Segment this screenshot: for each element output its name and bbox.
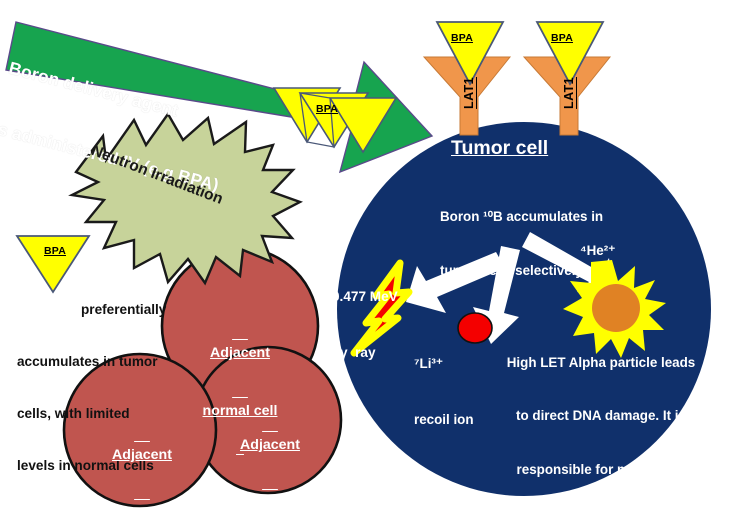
- helium-ion-label: ⁴He²⁺: [580, 243, 615, 259]
- alpha-line-1: High LET Alpha particle leads: [503, 354, 699, 372]
- bpa-label-receptor-1: BPA: [451, 32, 473, 44]
- tumor-cell-subtitle: Boron ¹⁰B accumulates in tumor cells sel…: [440, 172, 655, 317]
- normal-cell-br-line-2: normal cell: [210, 494, 330, 513]
- gamma-line-1: 0.477 MeV: [332, 288, 398, 307]
- lithium-line-2: recoil ion: [414, 411, 474, 430]
- lithium-recoil-ion-label: ⁷Li³⁺ recoil ion: [414, 318, 474, 466]
- normal-cell-bl-line-1: Adjacent: [82, 446, 202, 465]
- tumor-cell-title: Tumor cell: [451, 137, 548, 160]
- gamma-ray-label: 0.477 MeV γ ray: [332, 250, 398, 400]
- tumor-subtitle-line-1: Boron ¹⁰B accumulates in: [440, 208, 655, 226]
- normal-cell-br-line-1: Adjacent: [210, 436, 330, 455]
- lat1-label-2: LAT1: [562, 77, 577, 109]
- alpha-line-3: responsible for majority of: [503, 461, 699, 479]
- legend-line-1: preferentially: [17, 301, 192, 318]
- bpa-label-receptor-2: BPA: [551, 32, 573, 44]
- gamma-line-2: γ ray: [332, 344, 398, 363]
- bpa-label-arrow: BPA: [316, 103, 338, 115]
- bpa-label-legend: BPA: [44, 245, 66, 257]
- normal-cell-label-bottom-left: Adjacent normal cell: [82, 408, 202, 514]
- lithium-line-1: ⁷Li³⁺: [414, 355, 474, 374]
- tumor-subtitle-line-2: tumor cells selectively: [440, 262, 655, 280]
- bnct-mechanism-diagram: Boron delivery agent is administered IV …: [0, 0, 733, 514]
- normal-cell-top-line-1: Adjacent: [180, 344, 300, 363]
- normal-cell-bl-line-2: normal cell: [82, 504, 202, 514]
- normal-cell-label-bottom-right: Adjacent normal cell: [210, 398, 330, 514]
- alpha-particle-description: High LET Alpha particle leads to direct …: [503, 318, 699, 514]
- alpha-line-2: to direct DNA damage. It is: [503, 407, 699, 425]
- lat1-label-1: LAT1: [462, 77, 477, 109]
- legend-line-2: accumulates in tumor: [17, 353, 192, 370]
